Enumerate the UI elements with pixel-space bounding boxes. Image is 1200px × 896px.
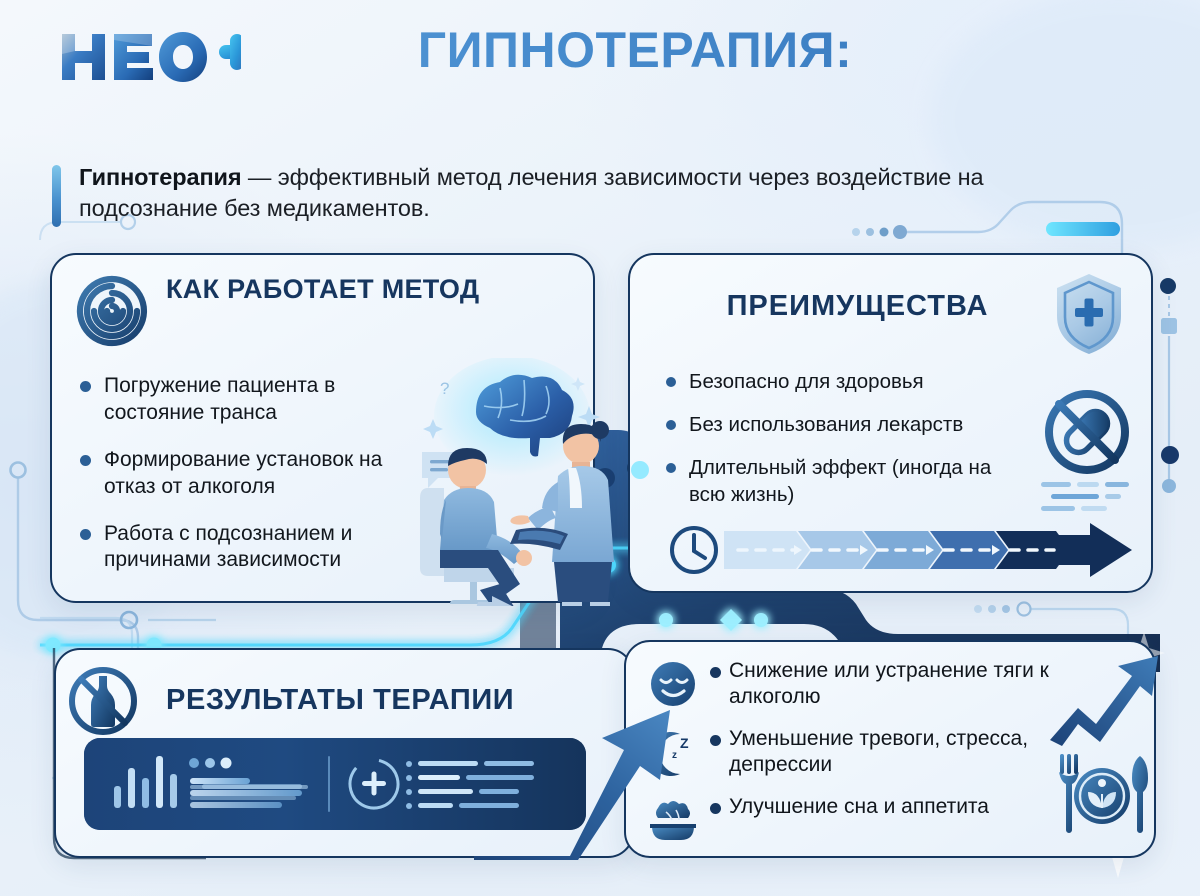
outcomes-list: Снижение или устранение тяги к алкоголю … [644,658,1064,862]
card-advantages-title: ПРЕИМУЩЕСТВА [630,291,1151,322]
page-title-line2: КОДИРОВАНИЕ ОТ АЛКОГОЛИЗМА [0,79,1200,134]
subtitle-text: Гипнотерапия — эффективный метод лечения… [79,162,1112,224]
bullet-dot-icon [666,463,676,473]
card-therapy-results: РЕЗУЛЬТАТЫ ТЕРАПИИ [54,648,634,858]
list-item-label: Погружение пациента в состояние транса [104,373,430,427]
list-item: Длительный эффект (иногда на всю жизнь) [666,455,996,507]
page-title-block: ГИПНОТЕРАПИЯ: КОДИРОВАНИЕ ОТ АЛКОГОЛИЗМА [0,24,1200,134]
card-results-title: РЕЗУЛЬТАТЫ ТЕРАПИИ [166,685,514,716]
bullet-dot-icon [80,529,91,540]
bullet-dot-icon [710,735,721,746]
list-item: Формирование установок на отказ от алког… [80,447,430,501]
infographic-poster: НЕО+ ГИПНОТЕРАПИЯ: КОДИРОВАНИЕ ОТ АЛКОГО… [0,0,1200,896]
list-item-label: Работа с подсознанием и причинами зависи… [104,521,430,575]
list-item: Погружение пациента в состояние транса [80,373,430,427]
calm-face-icon [644,658,702,714]
list-item-label: Улучшение сна и аппетита [729,794,989,820]
card-method-bullets: Погружение пациента в состояние транса Ф… [80,373,430,594]
subtitle-lead: Гипнотерапия [79,164,242,190]
card-method-title: КАК РАБОТАЕТ МЕТОД [166,275,479,304]
list-item-label: Длительный эффект (иногда на всю жизнь) [689,455,996,507]
list-item: Z z Уменьшение тревоги, стресса, депресс… [644,726,1064,782]
list-item-label: Без использования лекарств [689,412,963,438]
list-item: Снижение или устранение тяги к алкоголю [644,658,1064,714]
card-method-header: КАК РАБОТАЕТ МЕТОД [76,275,479,347]
bullet-dot-icon [80,381,91,392]
card-results-header: РЕЗУЛЬТАТЫ ТЕРАПИИ [76,664,514,738]
bullet-dot-icon [666,420,676,430]
bullet-dot-icon [710,803,721,814]
subtitle-accent-bar [52,165,61,227]
bullet-dot-icon [80,455,91,466]
bullet-dot-icon [710,667,721,678]
list-item: Улучшение сна и аппетита [644,794,1064,850]
svg-text:Z: Z [680,735,689,751]
card-how-method-works: КАК РАБОТАЕТ МЕТОД Погружение пациента в… [50,253,595,603]
list-item: Безопасно для здоровья [666,369,996,395]
bullet-dot-icon [666,377,676,387]
subtitle-block: Гипнотерапия — эффективный метод лечения… [52,162,1112,227]
results-dashboard-graphic [84,738,586,830]
dashboard-illustration [84,738,586,830]
card-advantages-header: ПРЕИМУЩЕСТВА [630,291,1151,322]
spiral-icon [76,275,148,347]
list-item-label: Формирование установок на отказ от алког… [104,447,430,501]
list-item-label: Уменьшение тревоги, стресса, депрессии [729,726,1064,779]
sleep-moon-icon: Z z [644,726,702,782]
card-outcomes: Снижение или устранение тяги к алкоголю … [624,640,1156,858]
page-title-line1: ГИПНОТЕРАПИЯ: [0,24,1200,76]
food-bowl-icon [644,794,702,850]
list-item: Без использования лекарств [666,412,996,438]
card-advantages: ПРЕИМУЩЕСТВА Безопасно для здоровья Без … [628,253,1153,593]
svg-text:z: z [672,750,677,761]
list-item-label: Безопасно для здоровья [689,369,924,395]
card-advantages-bullets: Безопасно для здоровья Без использования… [666,369,996,525]
list-item: Работа с подсознанием и причинами зависи… [80,521,430,575]
list-item-label: Снижение или устранение тяги к алкоголю [729,658,1064,711]
